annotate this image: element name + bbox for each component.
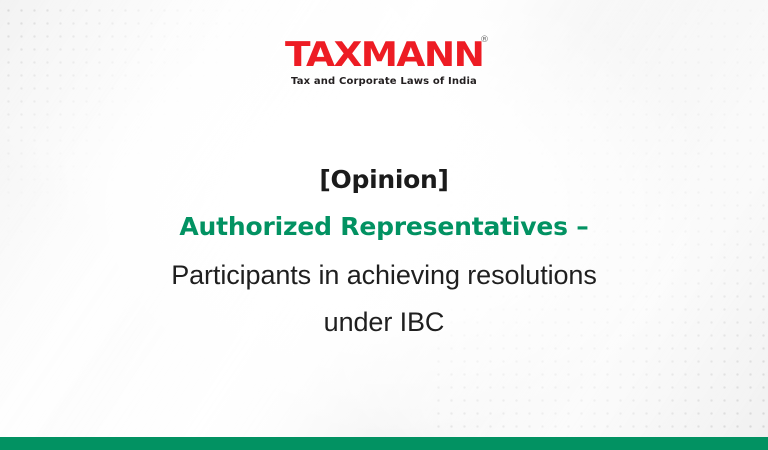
registered-trademark-icon: ® xyxy=(480,36,489,45)
title-line-subtitle-2: under IBC xyxy=(64,299,704,346)
title-line-highlight: Authorized Representatives – xyxy=(64,202,704,252)
article-banner: TAXMANN ® Tax and Corporate Laws of Indi… xyxy=(0,0,768,450)
taxmann-logo: TAXMANN ® Tax and Corporate Laws of Indi… xyxy=(0,38,768,88)
bottom-accent-bar xyxy=(0,437,768,450)
article-title: [Opinion] Authorized Representatives – P… xyxy=(64,158,704,346)
logo-wordmark: TAXMANN xyxy=(285,38,483,72)
logo-lockup: TAXMANN ® Tax and Corporate Laws of Indi… xyxy=(291,38,477,87)
logo-tagline: Tax and Corporate Laws of India xyxy=(291,77,477,87)
logo-wordmark-row: TAXMANN ® xyxy=(291,38,477,72)
title-line-opinion-tag: [Opinion] xyxy=(64,158,704,202)
title-line-subtitle-1: Participants in achieving resolutions xyxy=(64,252,704,299)
